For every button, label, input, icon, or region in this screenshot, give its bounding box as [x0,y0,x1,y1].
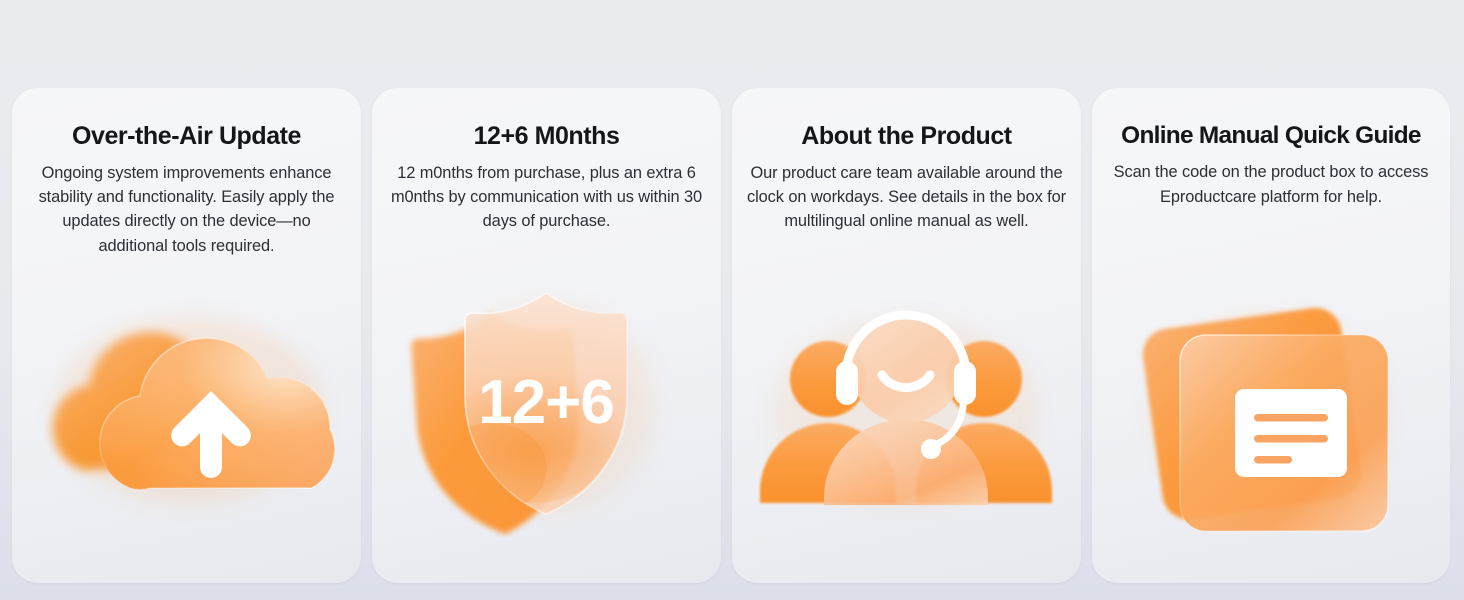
card-description: Our product care team available around t… [746,161,1067,234]
manual-document-icon [1092,283,1450,583]
support-team-headset-icon [732,283,1081,583]
card-text-block: Online Manual Quick Guide Scan the code … [1092,88,1450,209]
document-text-card [1235,389,1347,477]
cloud-upload-icon [12,283,361,583]
card-text-block: Over-the-Air Update Ongoing system impro… [12,88,361,258]
feature-card-over-the-air-update[interactable]: Over-the-Air Update Ongoing system impro… [12,88,361,583]
card-title: Online Manual Quick Guide [1106,122,1436,149]
feature-card-online-manual[interactable]: Online Manual Quick Guide Scan the code … [1092,88,1450,583]
card-text-block: About the Product Our product care team … [732,88,1081,234]
card-description: Scan the code on the product box to acce… [1106,160,1436,208]
card-description: Ongoing system improvements enhance stab… [26,161,347,258]
card-text-block: 12+6 M0nths 12 m0nths from purchase, plu… [372,88,721,234]
card-title: About the Product [746,122,1067,150]
card-title: 12+6 M0nths [386,122,707,150]
feature-card-row: Over-the-Air Update Ongoing system impro… [0,0,1464,600]
card-description: 12 m0nths from purchase, plus an extra 6… [386,161,707,234]
feature-card-warranty[interactable]: 12+6 M0nths 12 m0nths from purchase, plu… [372,88,721,583]
feature-card-about-product[interactable]: About the Product Our product care team … [732,88,1081,583]
shield-value-label: 12+6 [478,368,614,437]
shield-icon: 12+6 [372,283,721,583]
card-title: Over-the-Air Update [26,122,347,150]
